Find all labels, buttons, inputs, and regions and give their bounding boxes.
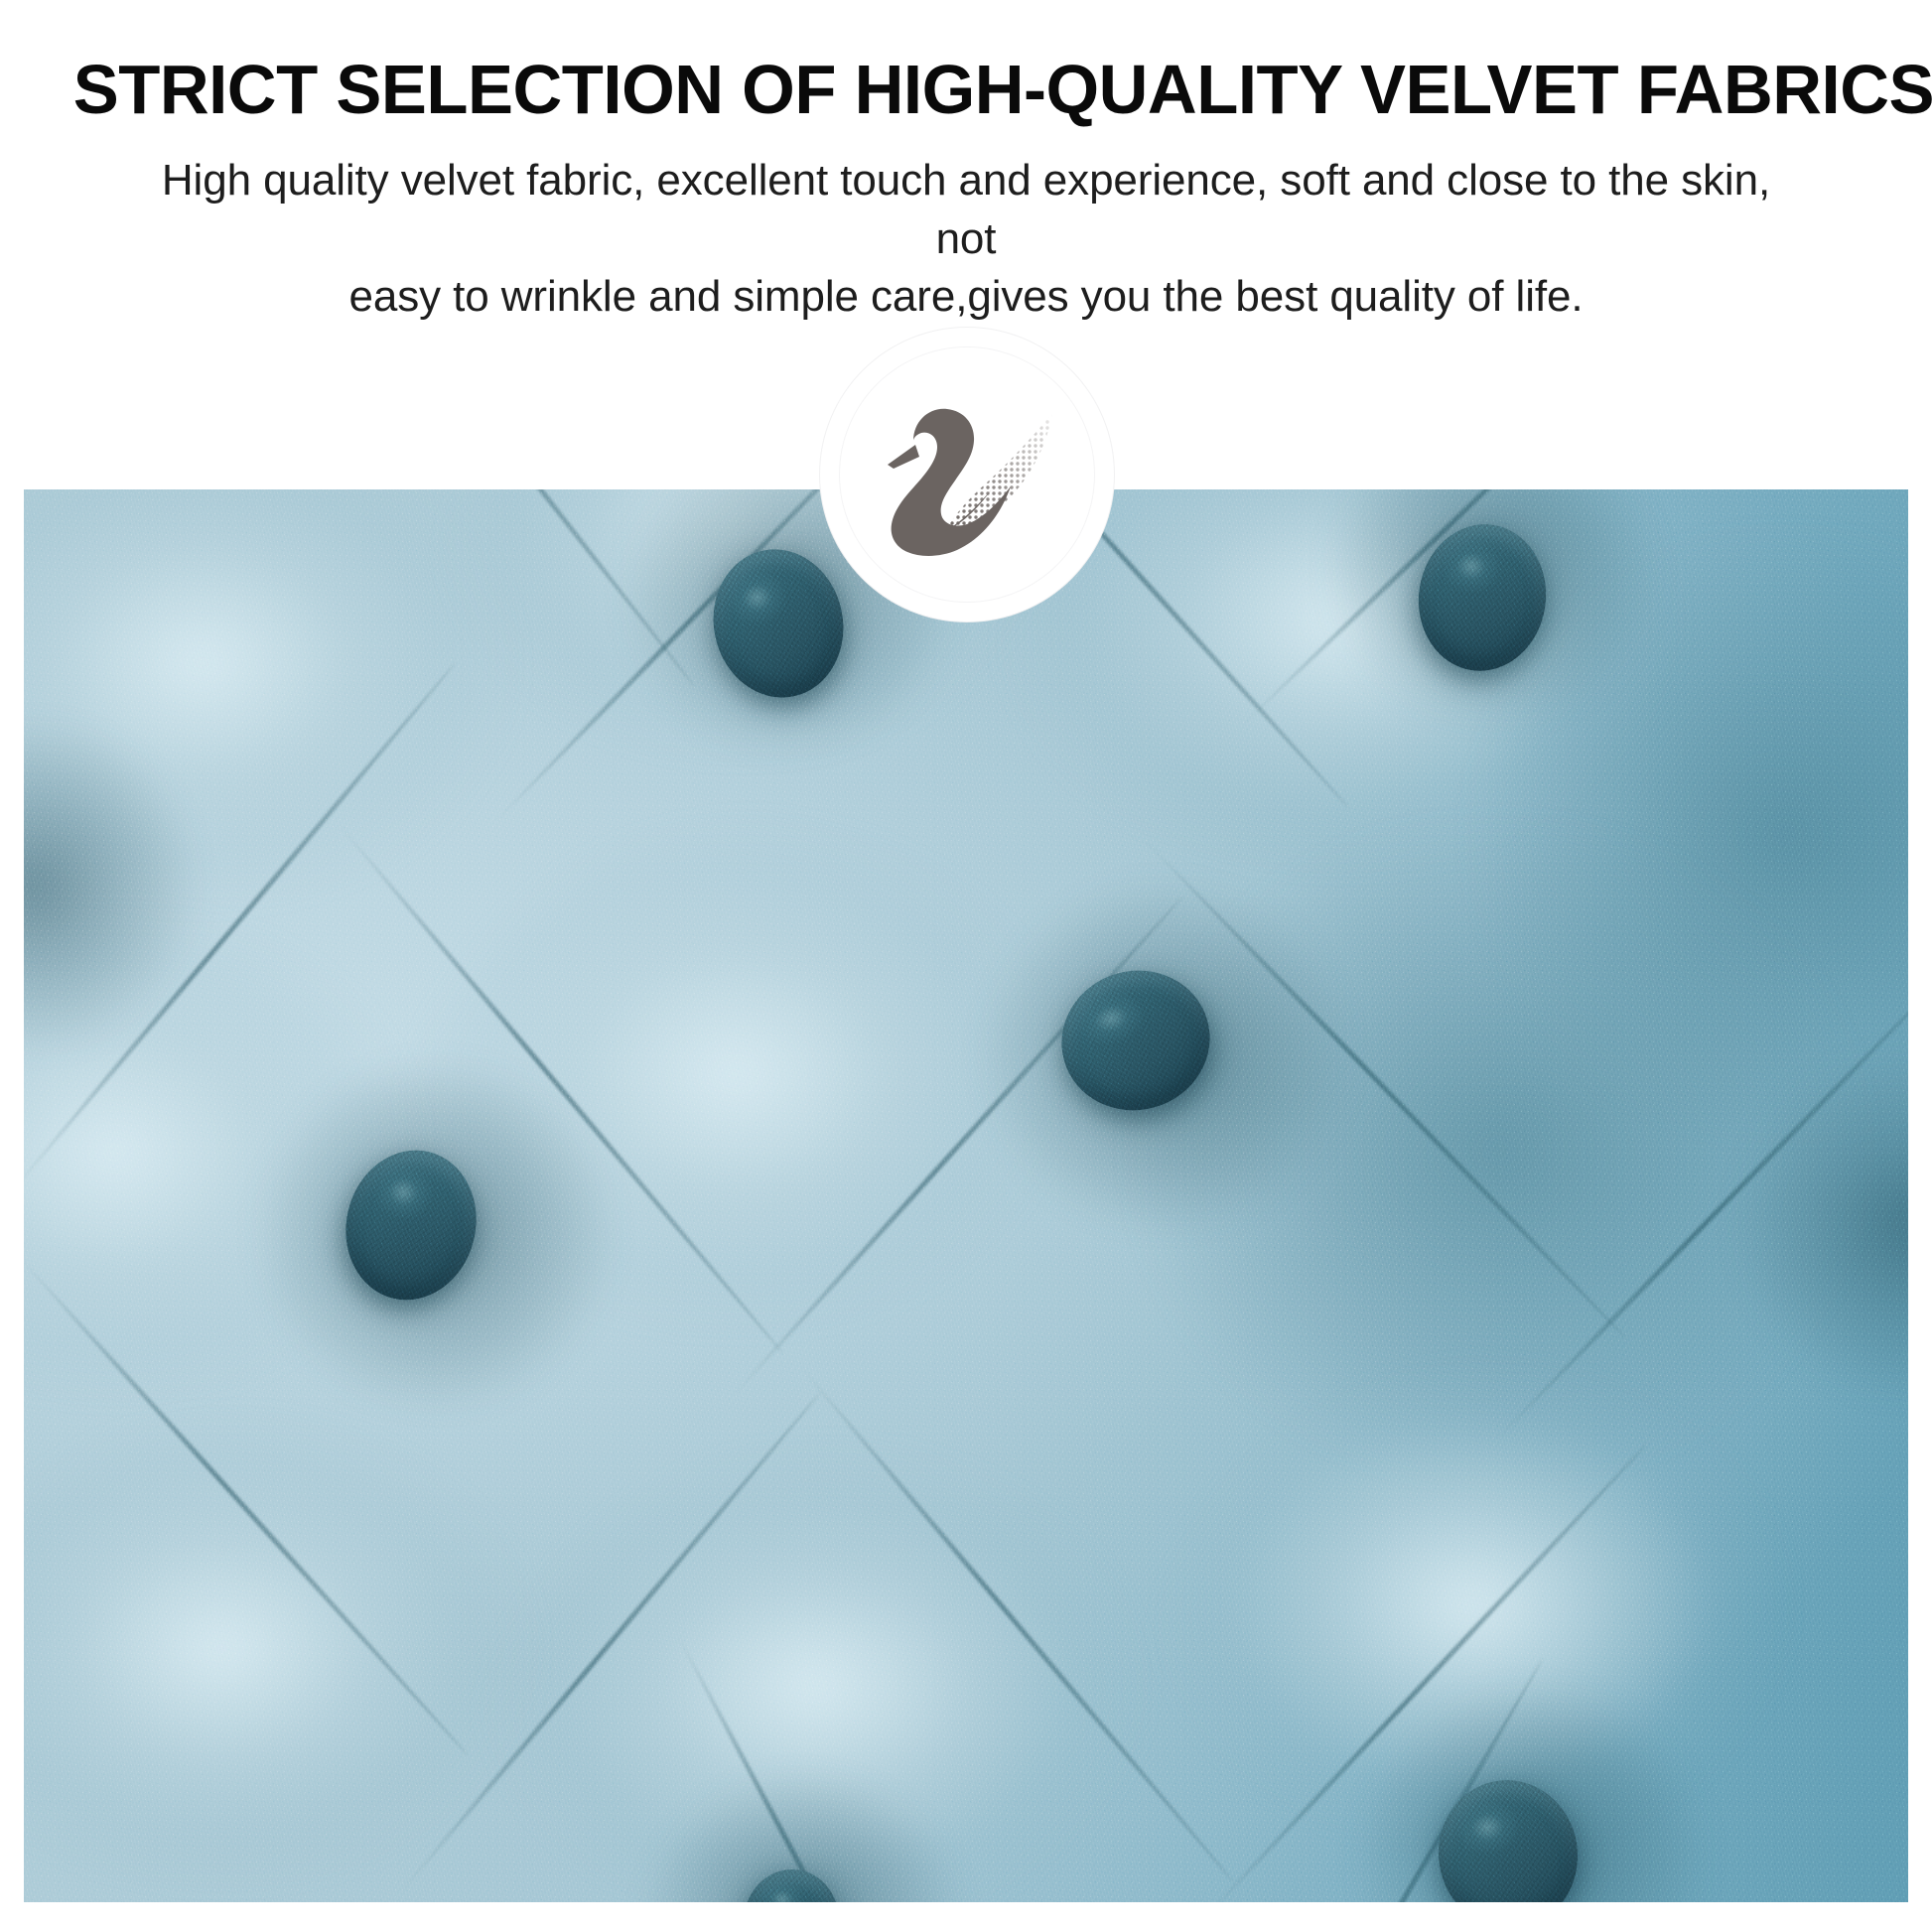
page-title: STRICT SELECTION OF HIGH-QUALITY VELVET … bbox=[15, 0, 1918, 124]
brand-logo-badge bbox=[820, 328, 1114, 621]
page-subtitle-line-2: easy to wrinkle and simple care,gives yo… bbox=[152, 268, 1780, 327]
tufted-velvet-fabric-photo bbox=[24, 489, 1908, 1902]
velvet-speckle-texture bbox=[24, 489, 1908, 1902]
header-text-block: STRICT SELECTION OF HIGH-QUALITY VELVET … bbox=[0, 0, 1932, 327]
page-subtitle: High quality velvet fabric, excellent to… bbox=[152, 124, 1780, 327]
product-feature-page: STRICT SELECTION OF HIGH-QUALITY VELVET … bbox=[0, 0, 1932, 1932]
swan-wing-halftone bbox=[872, 383, 1066, 568]
page-subtitle-line-1: High quality velvet fabric, excellent to… bbox=[152, 152, 1780, 268]
swan-icon bbox=[872, 383, 1066, 568]
